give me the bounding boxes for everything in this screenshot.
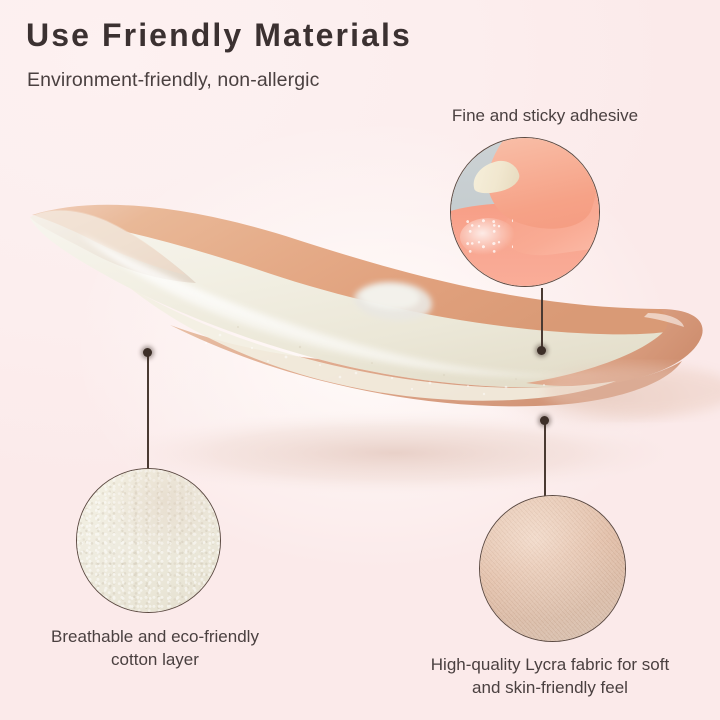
connector-dot-adhesive: [537, 346, 546, 355]
lycra-swatch-icon: [480, 496, 625, 641]
callout-circle-lycra: [479, 495, 626, 642]
connector-dot-cotton: [143, 348, 152, 357]
adhesive-swatch-icon: [451, 138, 599, 286]
connector-line-adhesive: [541, 288, 543, 352]
callout-circle-cotton: [76, 468, 221, 613]
connector-dot-lycra: [540, 416, 549, 425]
callout-label-adhesive: Fine and sticky adhesive: [425, 104, 665, 127]
cotton-swatch-icon: [77, 469, 220, 612]
callout-circle-adhesive: [450, 137, 600, 287]
product-image: [0, 185, 720, 505]
callout-label-cotton: Breathable and eco-friendly cotton layer: [10, 625, 300, 672]
callout-label-lycra: High-quality Lycra fabric for soft and s…: [388, 653, 712, 700]
connector-line-lycra: [544, 424, 546, 496]
page-subtitle: Environment-friendly, non-allergic: [27, 69, 319, 92]
page-title: Use Friendly Materials: [26, 17, 412, 54]
connector-line-cotton: [147, 356, 149, 468]
infographic-canvas: Use Friendly Materials Environment-frien…: [0, 0, 720, 720]
